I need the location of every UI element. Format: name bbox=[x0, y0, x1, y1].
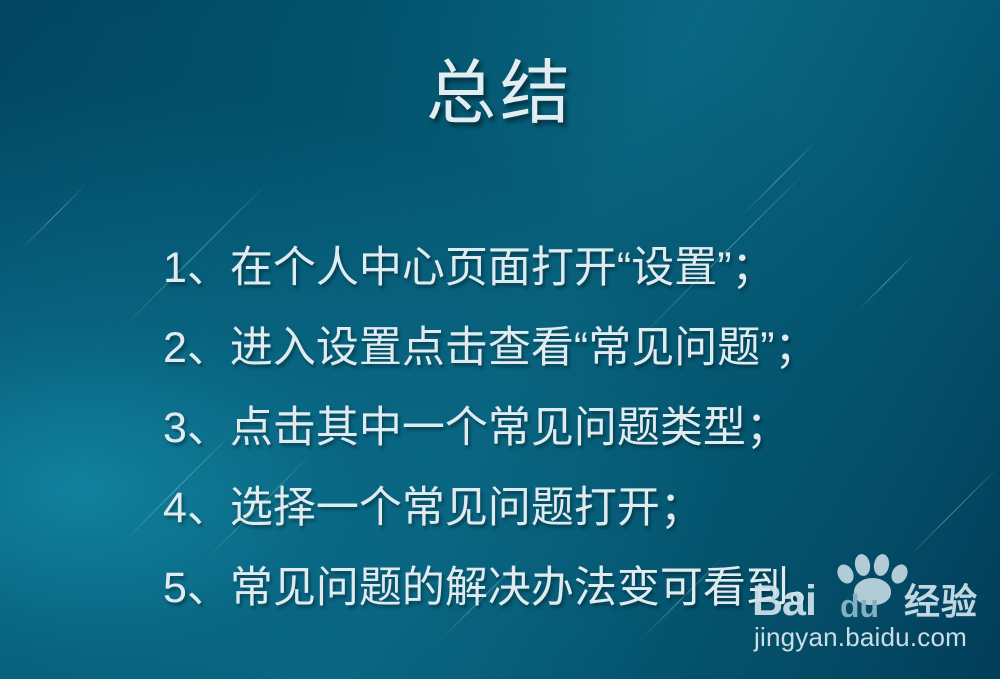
watermark-url: jingyan.baidu.com bbox=[754, 622, 967, 653]
paw-toe bbox=[853, 553, 872, 577]
watermark-brand-latin-suffix: du bbox=[840, 588, 879, 624]
slide-title: 总结 bbox=[0, 58, 1000, 128]
presentation-slide: 总结 1、在个人中心页面打开“设置”； 2、进入设置点击查看“常见问题”； 3、… bbox=[0, 0, 1000, 679]
list-item: 3、点击其中一个常见问题类型； bbox=[163, 388, 963, 468]
list-item: 1、在个人中心页面打开“设置”； bbox=[163, 228, 963, 308]
watermark-brand-latin: Bai bbox=[752, 578, 816, 624]
paw-toe bbox=[872, 553, 891, 577]
watermark-brand: Bai du 经验 bbox=[752, 578, 992, 624]
decorative-streak bbox=[20, 183, 88, 251]
watermark-brand-chinese: 经验 bbox=[904, 580, 978, 624]
baidu-jingyan-watermark: Bai du 经验 jingyan.baidu.com bbox=[752, 552, 992, 662]
list-item: 4、选择一个常见问题打开； bbox=[163, 468, 963, 548]
decorative-streak bbox=[742, 141, 817, 216]
list-item: 2、进入设置点击查看“常见问题”； bbox=[163, 308, 963, 388]
